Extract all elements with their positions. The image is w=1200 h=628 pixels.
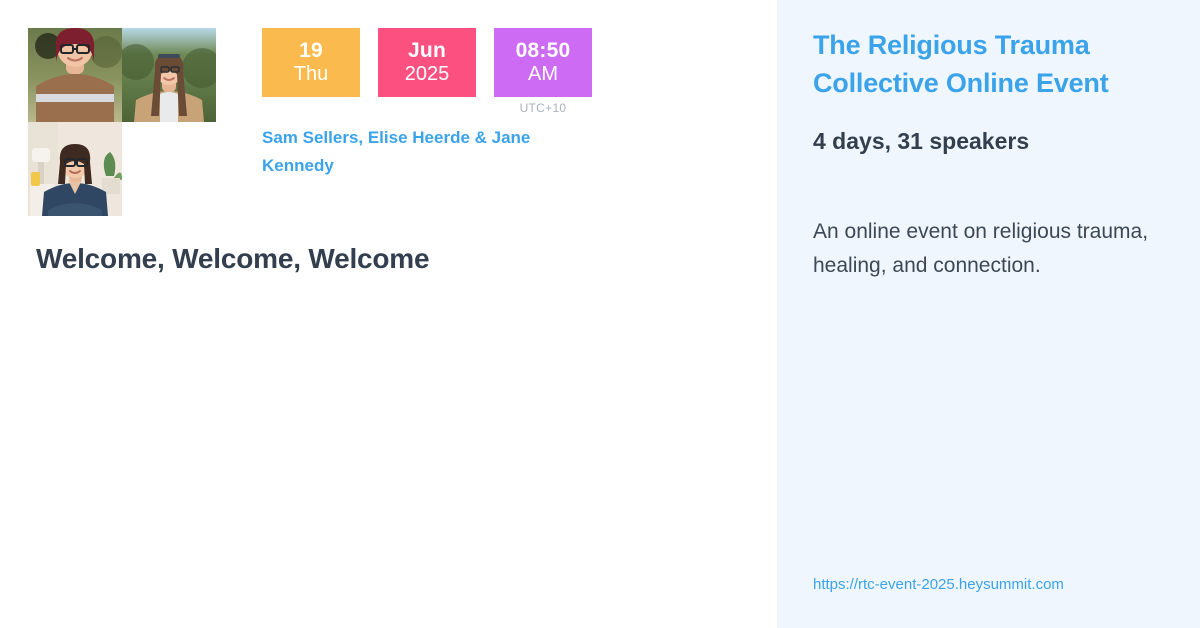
event-stats: 4 days, 31 speakers (813, 128, 1164, 155)
timezone-label: UTC+10 (494, 101, 592, 115)
speaker-and-schedule-row: 19 Thu Jun 2025 08:50 AM UTC+10 Sam Sell… (28, 28, 602, 216)
event-url-link[interactable]: https://rtc-event-2025.heysummit.com (813, 576, 1064, 593)
badge-day: 19 Thu (262, 28, 360, 97)
event-description: An online event on religious trauma, hea… (813, 215, 1164, 284)
left-panel: 19 Thu Jun 2025 08:50 AM UTC+10 Sam Sell… (0, 0, 777, 628)
badge-time-clock: 08:50 (516, 40, 571, 62)
event-title: The Religious Trauma Collective Online E… (813, 26, 1164, 103)
speaker-photo-sam-sellers (28, 28, 122, 122)
event-share-card: 19 Thu Jun 2025 08:50 AM UTC+10 Sam Sell… (0, 0, 1200, 628)
badge-time: 08:50 AM (494, 28, 592, 97)
speaker-photo-grid (28, 28, 216, 216)
badge-month-year: 2025 (405, 64, 450, 85)
badge-day-weekday: Thu (294, 64, 328, 85)
talk-title: Welcome, Welcome, Welcome (36, 243, 429, 275)
badge-day-number: 19 (299, 40, 323, 62)
speaker-photo-jane-kennedy (28, 122, 122, 216)
speaker-photo-placeholder (122, 122, 216, 216)
date-time-badges: 19 Thu Jun 2025 08:50 AM (262, 28, 602, 97)
badge-month: Jun 2025 (378, 28, 476, 97)
schedule-column: 19 Thu Jun 2025 08:50 AM UTC+10 Sam Sell… (262, 28, 602, 180)
badge-month-name: Jun (408, 40, 446, 62)
right-panel: The Religious Trauma Collective Online E… (777, 0, 1200, 628)
speaker-photo-elise-heerde (122, 28, 216, 122)
speakers-names[interactable]: Sam Sellers, Elise Heerde & Jane Kennedy (262, 124, 592, 180)
badge-time-meridiem: AM (528, 64, 558, 85)
